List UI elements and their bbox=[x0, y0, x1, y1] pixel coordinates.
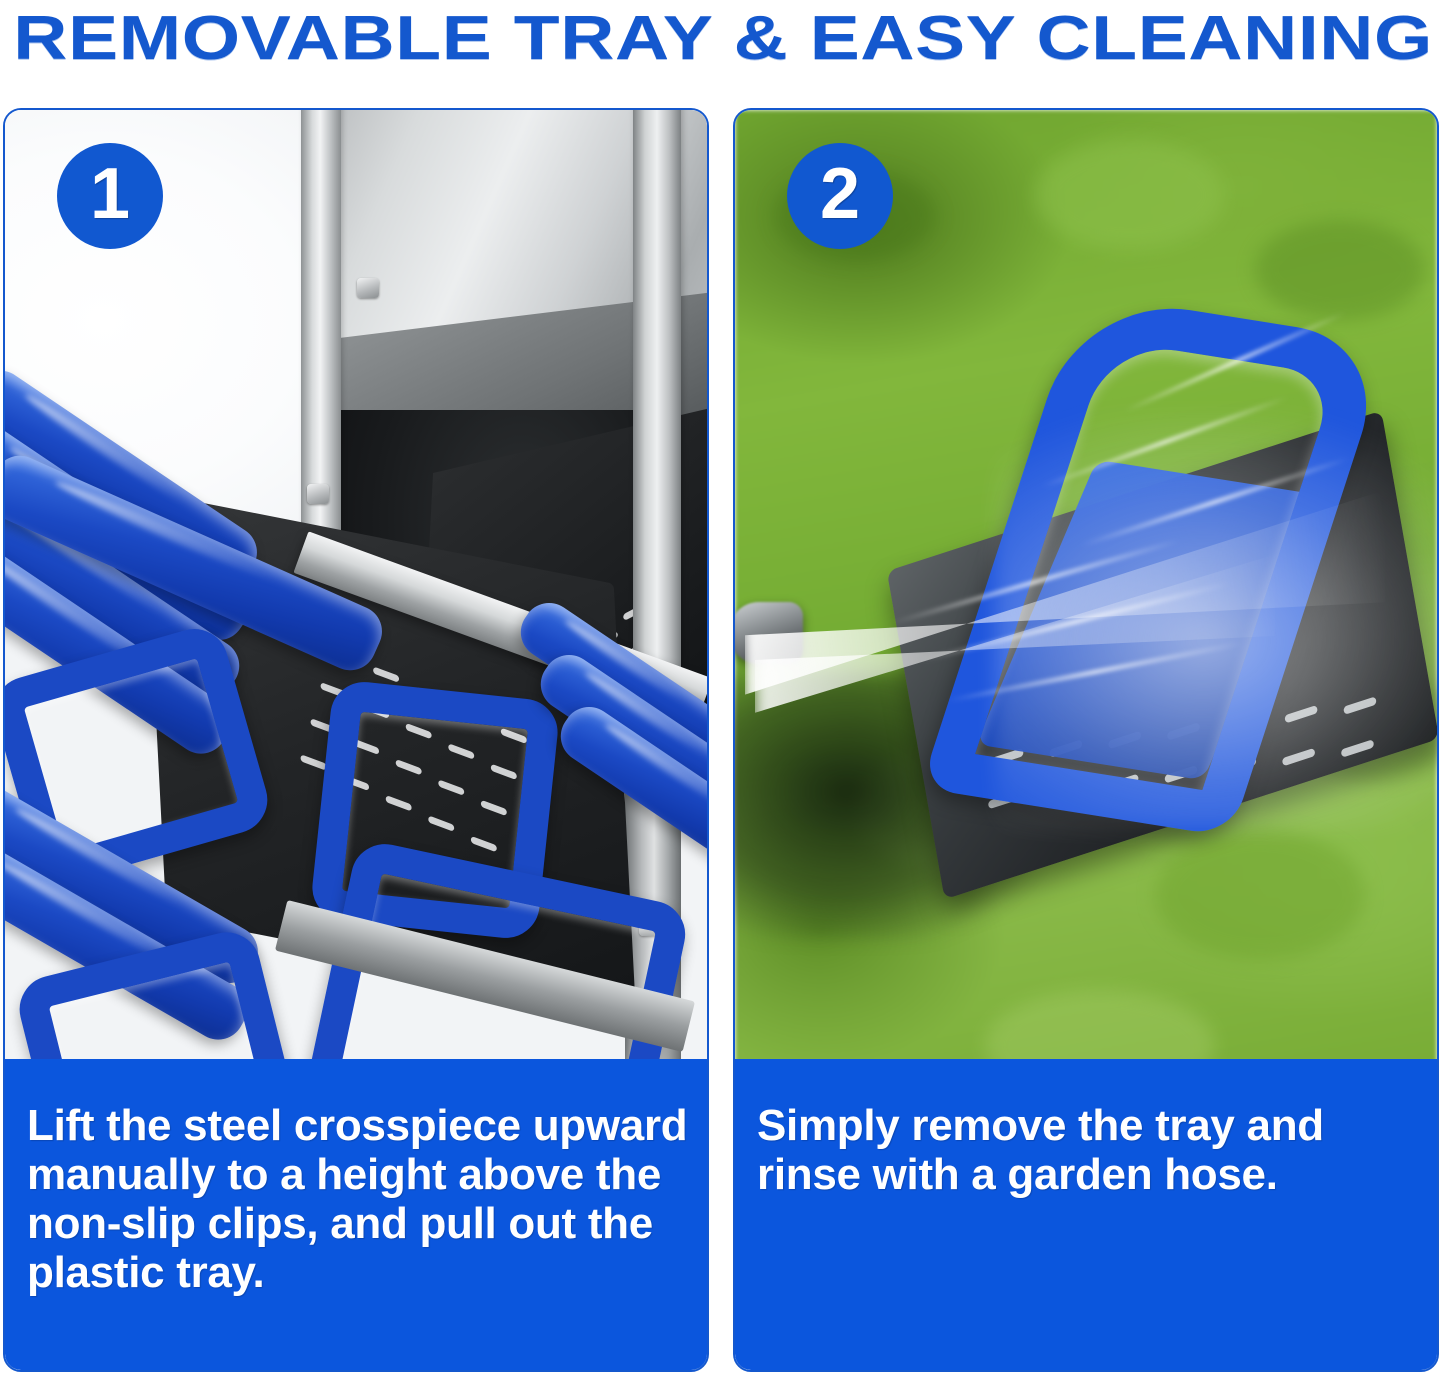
water-mist bbox=[995, 410, 1437, 830]
step-number-2: 2 bbox=[820, 158, 860, 230]
page-title: REMOVABLE TRAY & EASY CLEANING bbox=[0, 0, 1445, 78]
step-panel-1: 1 Lift the steel crosspiece upward manua… bbox=[3, 108, 709, 1372]
step-number-badge-2: 2 bbox=[787, 143, 893, 249]
bolt-upper bbox=[357, 278, 379, 298]
step-number-badge-1: 1 bbox=[57, 143, 163, 249]
step-panel-2: 2 Simply remove the tray and rinse with … bbox=[733, 108, 1439, 1372]
step-1-photo bbox=[5, 110, 707, 1063]
page-title-text: REMOVABLE TRAY & EASY CLEANING bbox=[0, 8, 1433, 70]
step-1-caption: Lift the steel crosspiece upward manuall… bbox=[5, 1059, 709, 1370]
step-2-photo bbox=[735, 110, 1437, 1063]
bolt-hinge bbox=[307, 484, 329, 504]
step-number-1: 1 bbox=[90, 158, 130, 230]
step-2-caption-text: Simply remove the tray and rinse with a … bbox=[757, 1101, 1419, 1199]
step-1-caption-text: Lift the steel crosspiece upward manuall… bbox=[27, 1101, 689, 1297]
step-2-caption: Simply remove the tray and rinse with a … bbox=[735, 1059, 1439, 1370]
